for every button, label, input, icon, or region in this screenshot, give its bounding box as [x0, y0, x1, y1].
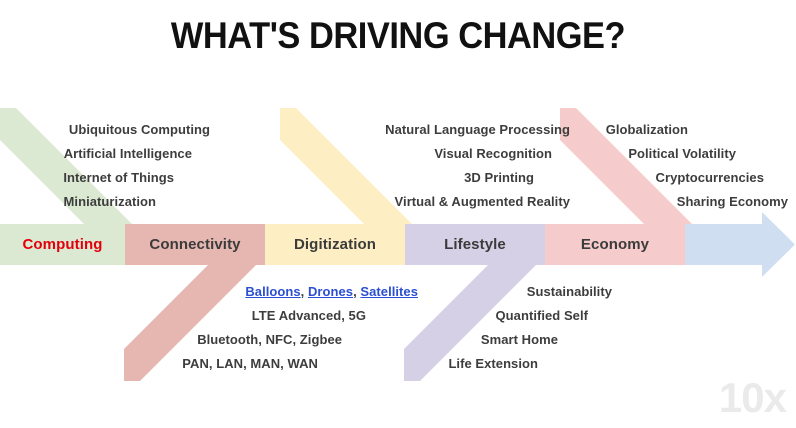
branch-item: Virtual & Augmented Reality [280, 190, 570, 214]
branch-item: Globalization [560, 118, 796, 142]
branch-item: PAN, LAN, MAN, WAN [120, 352, 430, 376]
branch-connectivity: Balloons, Drones, Satellites LTE Advance… [120, 280, 430, 376]
branch-item: Quantified Self [400, 304, 616, 328]
branch-item: Life Extension [400, 352, 616, 376]
spine-label-lifestyle[interactable]: Lifestyle [405, 224, 545, 265]
brand-watermark: 10x [719, 376, 786, 420]
branch-item: Sustainability [400, 280, 616, 304]
spine-label-computing[interactable]: Computing [0, 224, 125, 265]
branch-computing: Ubiquitous Computing Artificial Intellig… [0, 118, 210, 214]
branch-item: 3D Printing [280, 166, 570, 190]
branch-item: Smart Home [400, 328, 616, 352]
branch-item: Bluetooth, NFC, Zigbee [120, 328, 430, 352]
branch-item: LTE Advanced, 5G [120, 304, 430, 328]
spine-arrowhead-icon [762, 212, 795, 277]
branch-lifestyle: Sustainability Quantified Self Smart Hom… [400, 280, 616, 376]
branch-item: Political Volatility [560, 142, 796, 166]
branch-digitization: Natural Language Processing Visual Recog… [280, 118, 570, 214]
spine-segment-tail [685, 224, 763, 265]
branch-item: Sharing Economy [560, 190, 796, 214]
branch-item: Artificial Intelligence [0, 142, 210, 166]
spine-label-connectivity[interactable]: Connectivity [125, 224, 265, 265]
link-drones[interactable]: Drones [308, 284, 353, 299]
branch-item: Ubiquitous Computing [0, 118, 210, 142]
branch-item: Visual Recognition [280, 142, 570, 166]
branch-item: Miniaturization [0, 190, 210, 214]
branch-item: Cryptocurrencies [560, 166, 796, 190]
branch-item: Internet of Things [0, 166, 210, 190]
comma-separator: , [301, 284, 308, 299]
branch-item-links: Balloons, Drones, Satellites [120, 280, 430, 304]
spine-label-digitization[interactable]: Digitization [265, 224, 405, 265]
fishbone-diagram: Computing Connectivity Digitization Life… [0, 0, 796, 428]
link-balloons[interactable]: Balloons [245, 284, 300, 299]
spine-label-economy[interactable]: Economy [545, 224, 685, 265]
branch-item: Natural Language Processing [280, 118, 570, 142]
branch-economy: Globalization Political Volatility Crypt… [560, 118, 796, 214]
